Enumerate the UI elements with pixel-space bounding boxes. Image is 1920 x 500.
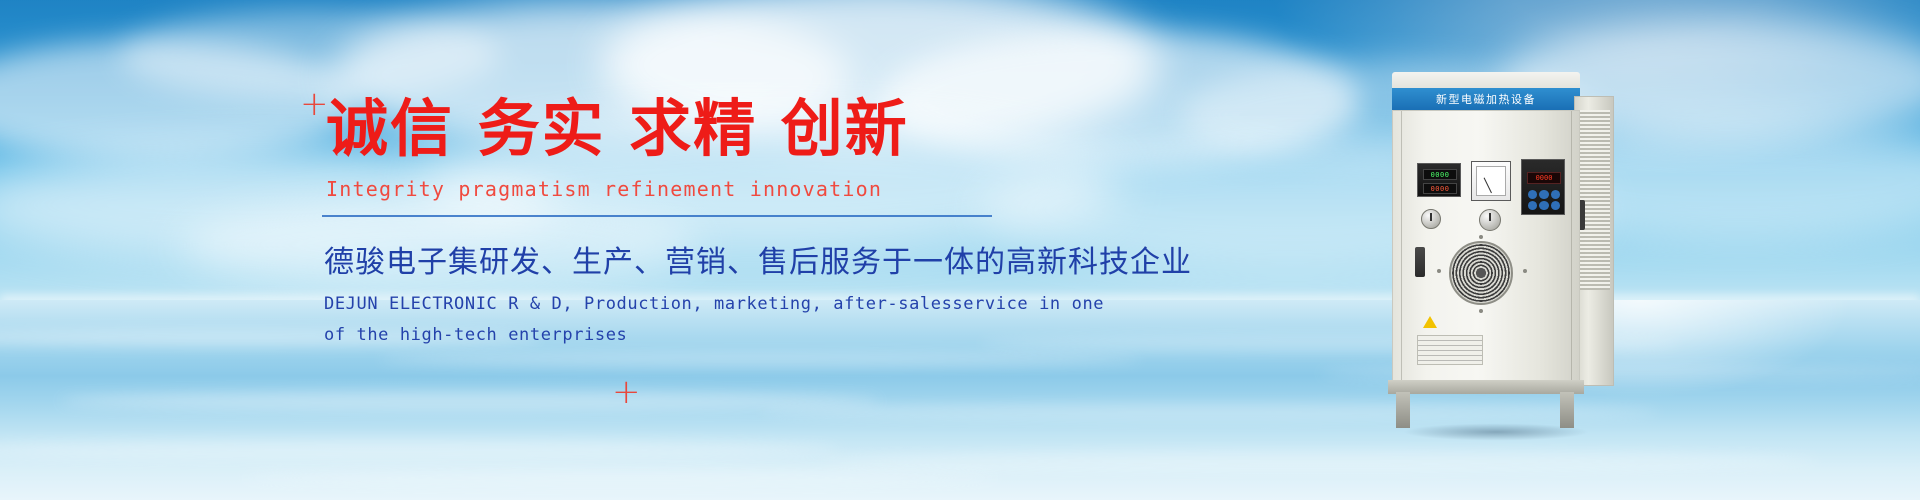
keypad-button[interactable] [1539,201,1548,210]
digital-meter-readout-bottom: 0000 [1423,183,1457,194]
wave [380,352,1140,366]
headline-chinese: 诚信 务实 求精 创新 [326,96,1078,163]
screw-icon [1523,269,1527,273]
keypad-button[interactable] [1551,190,1560,199]
machine-label-text: 新型电磁加热设备 [1436,91,1536,107]
headline-english: Integrity pragmatism refinement innovati… [326,177,1078,201]
keypad-button[interactable] [1551,201,1560,210]
keypad-led-display: 0000 [1527,172,1561,184]
screw-icon [1479,309,1483,313]
tagline-english-line-2: of the high-tech enterprises [324,320,1078,351]
plus-mark-icon: + [612,372,641,412]
panel-seam [1571,111,1572,381]
promo-banner: + + 诚信 务实 求精 创新 Integrity pragmatism ref… [0,0,1920,500]
wave [240,470,1000,486]
keypad-button[interactable] [1528,190,1537,199]
knob-pointer-icon [1430,213,1432,221]
keypad-button[interactable] [1528,201,1537,210]
fan-grille-icon [1449,241,1513,305]
machine-leg [1396,392,1410,428]
analog-gauge [1471,161,1511,201]
wave [820,452,1820,470]
warning-triangle-icon [1423,316,1437,328]
control-keypad[interactable]: 0000 [1521,159,1565,215]
selector-knob[interactable] [1421,209,1441,229]
control-knob[interactable] [1479,209,1501,231]
knob-pointer-icon [1489,213,1491,221]
machine-leg [1560,392,1574,428]
digital-meter: 0000 0000 [1417,163,1461,197]
screw-icon [1437,269,1441,273]
keypad-button[interactable] [1539,190,1548,199]
spec-plate [1417,335,1483,365]
machine-label-band: 新型电磁加热设备 [1392,88,1580,110]
screw-icon [1479,235,1483,239]
banner-copy: 诚信 务实 求精 创新 Integrity pragmatism refinem… [318,96,1078,352]
wave [60,392,880,410]
machine-front-panel: 0000 0000 0000 [1392,110,1580,382]
machine-base [1388,380,1584,394]
tagline-english-line-1: DEJUN ELECTRONIC R & D, Production, mark… [324,289,1078,320]
digital-meter-readout-top: 0000 [1423,169,1457,180]
keypad-buttons[interactable] [1528,190,1560,210]
divider-rule [322,215,992,217]
product-machine: 新型电磁加热设备 0000 0000 0000 [1378,72,1614,424]
panel-seam [1401,111,1402,381]
tagline-chinese: 德骏电子集研发、生产、营销、售后服务于一体的高新科技企业 [324,237,1078,281]
fan-hub [1476,268,1486,278]
door-latch[interactable] [1415,247,1425,277]
